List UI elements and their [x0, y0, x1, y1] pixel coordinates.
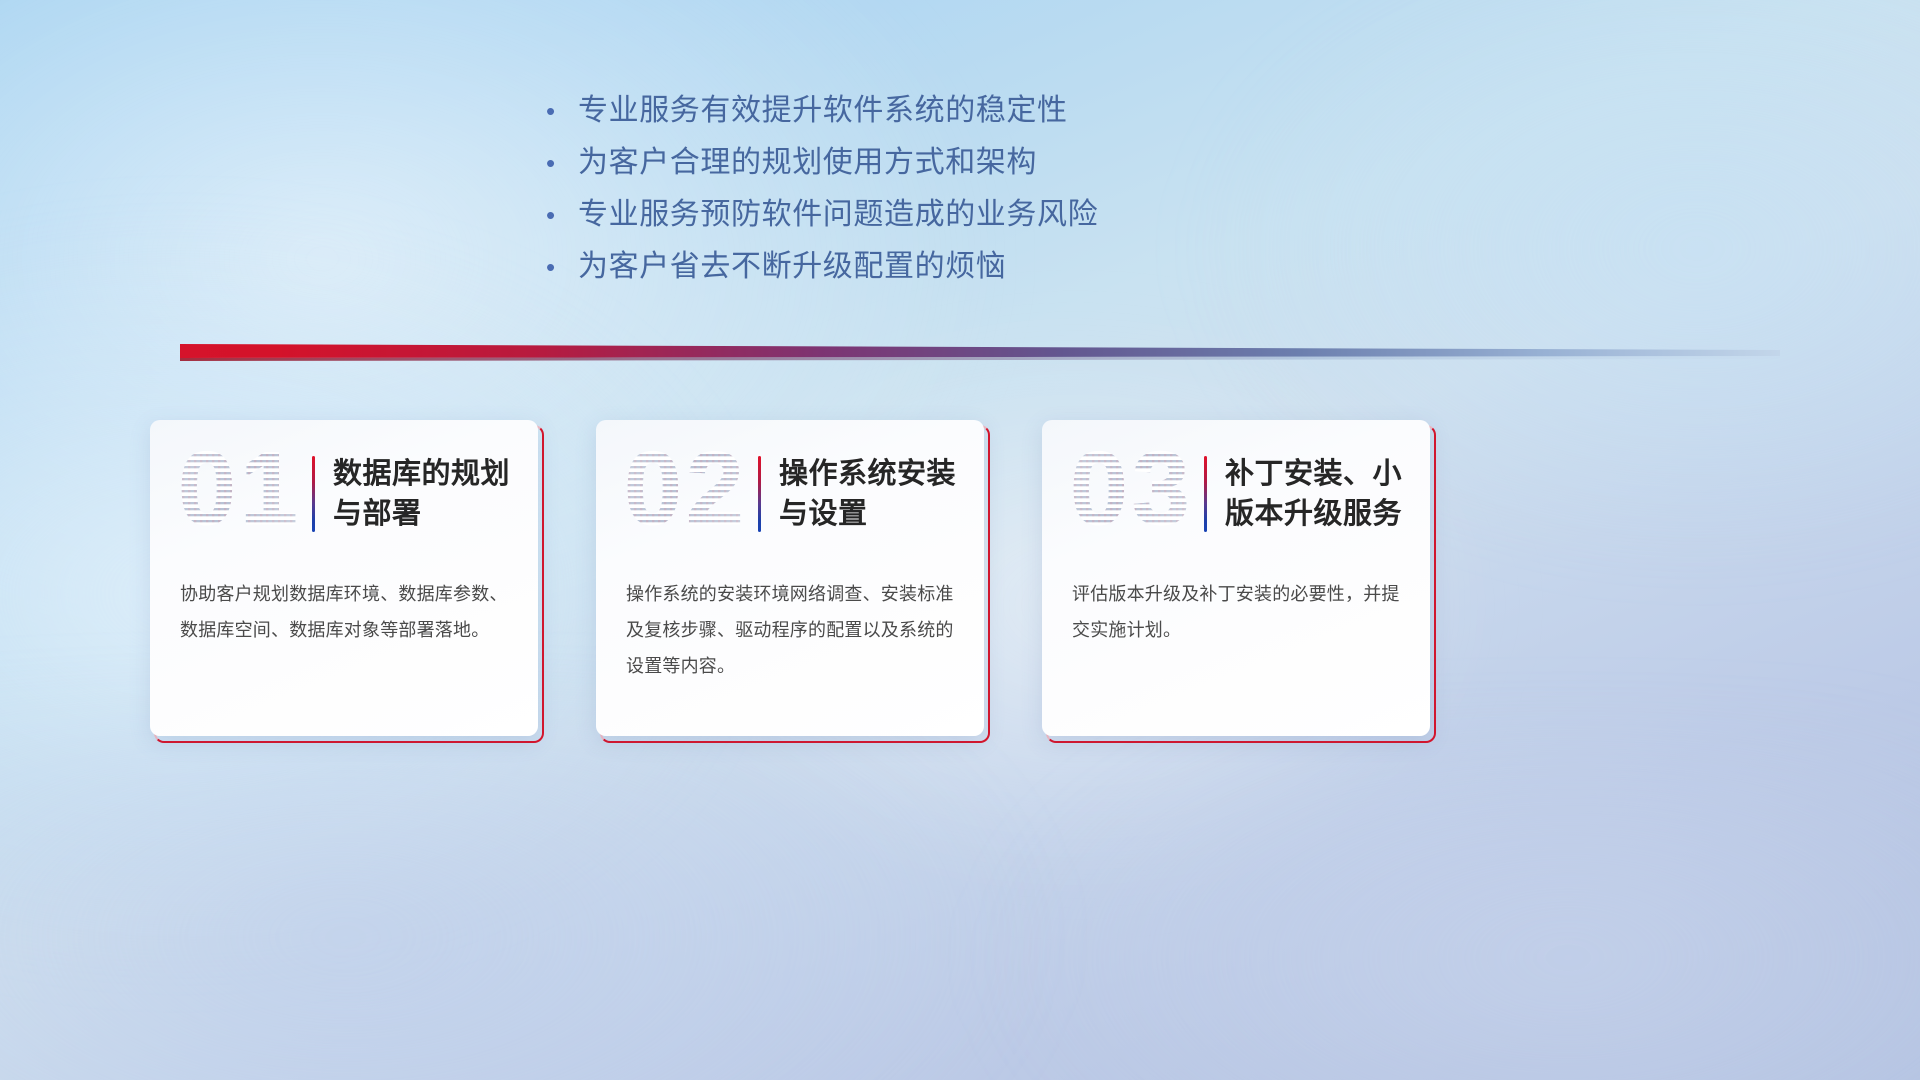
- card-title: 数据库的规划与部署: [333, 454, 516, 534]
- list-item: • 专业服务有效提升软件系统的稳定性: [540, 88, 1300, 140]
- feature-card-01[interactable]: 01 数据库的规划与部署 协助客户规划数据库环境、数据库参数、数据库空间、数据库…: [150, 420, 540, 740]
- card-surface: 03 补丁安装、小版本升级服务 评估版本升级及补丁安装的必要性，并提交实施计划。: [1042, 420, 1430, 736]
- feature-card-02[interactable]: 02 操作系统安装与设置 操作系统的安装环境网络调查、安装标准及复核步骤、驱动程…: [596, 420, 986, 740]
- card-number-watermark: 03: [1068, 442, 1200, 546]
- bullet-text: 为客户省去不断升级配置的烦恼: [578, 244, 1006, 290]
- card-divider-bar: [1204, 456, 1207, 532]
- card-divider-bar: [312, 456, 315, 532]
- bullet-point-icon: •: [540, 140, 578, 186]
- card-description: 操作系统的安装环境网络调查、安装标准及复核步骤、驱动程序的配置以及系统的设置等内…: [596, 568, 984, 684]
- feature-card-03[interactable]: 03 补丁安装、小版本升级服务 评估版本升级及补丁安装的必要性，并提交实施计划。: [1042, 420, 1432, 740]
- card-surface: 02 操作系统安装与设置 操作系统的安装环境网络调查、安装标准及复核步骤、驱动程…: [596, 420, 984, 736]
- striped-number-icon: 03: [1068, 442, 1200, 546]
- bullet-text: 专业服务预防软件问题造成的业务风险: [578, 192, 1098, 238]
- card-title: 补丁安装、小版本升级服务: [1225, 454, 1408, 534]
- list-item: • 专业服务预防软件问题造成的业务风险: [540, 192, 1300, 244]
- feature-card-row: 01 数据库的规划与部署 协助客户规划数据库环境、数据库参数、数据库空间、数据库…: [150, 420, 1790, 750]
- card-description: 协助客户规划数据库环境、数据库参数、数据库空间、数据库对象等部署落地。: [150, 568, 538, 648]
- striped-number-icon: 01: [176, 442, 308, 546]
- background-glow-bottomright: [998, 734, 1920, 1080]
- bullet-point-icon: •: [540, 244, 578, 290]
- bullet-point-icon: •: [540, 192, 578, 238]
- card-header: 03 补丁安装、小版本升级服务: [1042, 420, 1430, 568]
- bullet-list: • 专业服务有效提升软件系统的稳定性 • 为客户合理的规划使用方式和架构 • 专…: [540, 88, 1300, 296]
- card-number-watermark: 01: [176, 442, 308, 546]
- list-item: • 为客户合理的规划使用方式和架构: [540, 140, 1300, 192]
- card-title: 操作系统安装与设置: [779, 454, 962, 534]
- bullet-text: 为客户合理的规划使用方式和架构: [578, 140, 1037, 186]
- bullet-point-icon: •: [540, 88, 578, 134]
- card-divider-bar: [758, 456, 761, 532]
- card-surface: 01 数据库的规划与部署 协助客户规划数据库环境、数据库参数、数据库空间、数据库…: [150, 420, 538, 736]
- card-description: 评估版本升级及补丁安装的必要性，并提交实施计划。: [1042, 568, 1430, 648]
- bullet-text: 专业服务有效提升软件系统的稳定性: [578, 88, 1068, 134]
- card-header: 02 操作系统安装与设置: [596, 420, 984, 568]
- card-header: 01 数据库的规划与部署: [150, 420, 538, 568]
- striped-number-icon: 02: [622, 442, 754, 546]
- list-item: • 为客户省去不断升级配置的烦恼: [540, 244, 1300, 296]
- background-glow-bottomleft: [0, 713, 1037, 1080]
- card-number-watermark: 02: [622, 442, 754, 546]
